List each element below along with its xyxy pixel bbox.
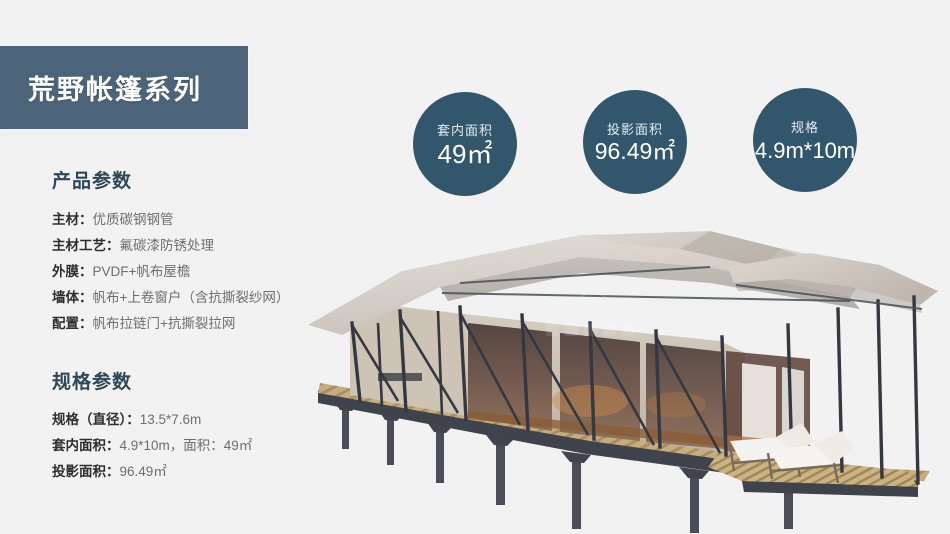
spec-value: 氟碳漆防锈处理 [120,238,215,253]
badge-value: 49㎡ [438,140,493,169]
spec-value: PVDF+帆布屋檐 [93,264,191,279]
spec-label: 墙体： [52,290,93,305]
badge-label: 规格 [791,117,819,136]
spec-label: 规格（直径）： [52,412,140,427]
spec-label: 投影面积： [52,464,120,479]
spec-label: 主材工艺： [52,238,120,253]
spec-value: 帆布+上卷窗户（含抗撕裂纱网） [93,290,290,305]
page-title: 荒野帐篷系列 [0,68,202,107]
spec-value: 96.49㎡ [120,464,167,479]
spec-value: 帆布拉链门+抗撕裂拉网 [93,316,236,331]
badge-label: 投影面积 [607,119,663,138]
spec-label: 主材： [52,212,93,227]
title-banner: 荒野帐篷系列 [0,46,248,129]
badge-interior-area: 套内面积 49㎡ [413,92,517,196]
spec-value: 4.9*10m，面积：49㎡ [120,438,253,453]
spec-label: 套内面积： [52,438,120,453]
badge-label: 套内面积 [437,120,493,139]
badge-value: 4.9m*10m [755,139,855,163]
tent-lodge-illustration [290,205,950,534]
spec-label: 配置： [52,316,93,331]
slide-canvas: 荒野帐篷系列 产品参数 主材：优质碳钢钢管 主材工艺：氟碳漆防锈处理 外膜：PV… [0,0,950,534]
badge-projected-area: 投影面积 96.49㎡ [583,90,687,194]
badge-value: 96.49㎡ [595,139,676,164]
spec-label: 外膜： [52,264,93,279]
section-heading-product: 产品参数 [52,166,372,193]
spec-value: 13.5*7.6m [140,412,202,427]
spec-value: 优质碳钢钢管 [93,212,174,227]
badge-dimensions: 规格 4.9m*10m [753,88,857,192]
product-render-image [290,205,950,534]
